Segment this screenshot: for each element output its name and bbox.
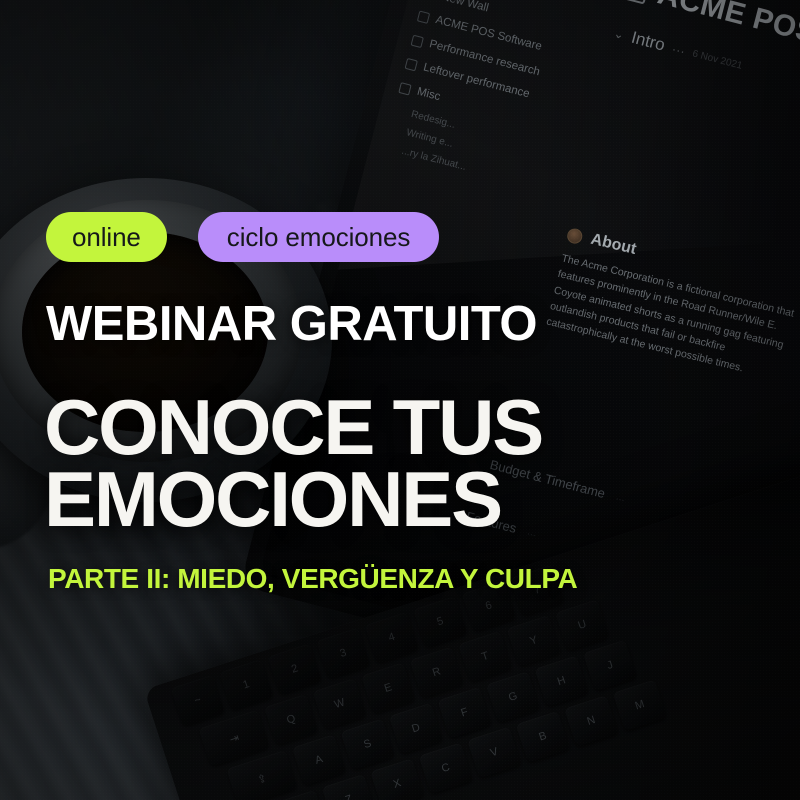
eyebrow-text: WEBINAR GRATUITO bbox=[46, 300, 537, 349]
headline: CONOCE TUS EMOCIONES bbox=[44, 392, 542, 536]
badge-ciclo-emociones[interactable]: ciclo emociones bbox=[198, 212, 439, 262]
webinar-poster: Daily Desk Connect Search New Wall bbox=[0, 0, 800, 800]
headline-line-2: EMOCIONES bbox=[44, 464, 542, 536]
badge-row: online ciclo emociones bbox=[46, 212, 439, 262]
badge-online[interactable]: online bbox=[46, 212, 167, 262]
subtitle: PARTE II: MIEDO, VERGÜENZA Y CULPA bbox=[48, 565, 577, 593]
